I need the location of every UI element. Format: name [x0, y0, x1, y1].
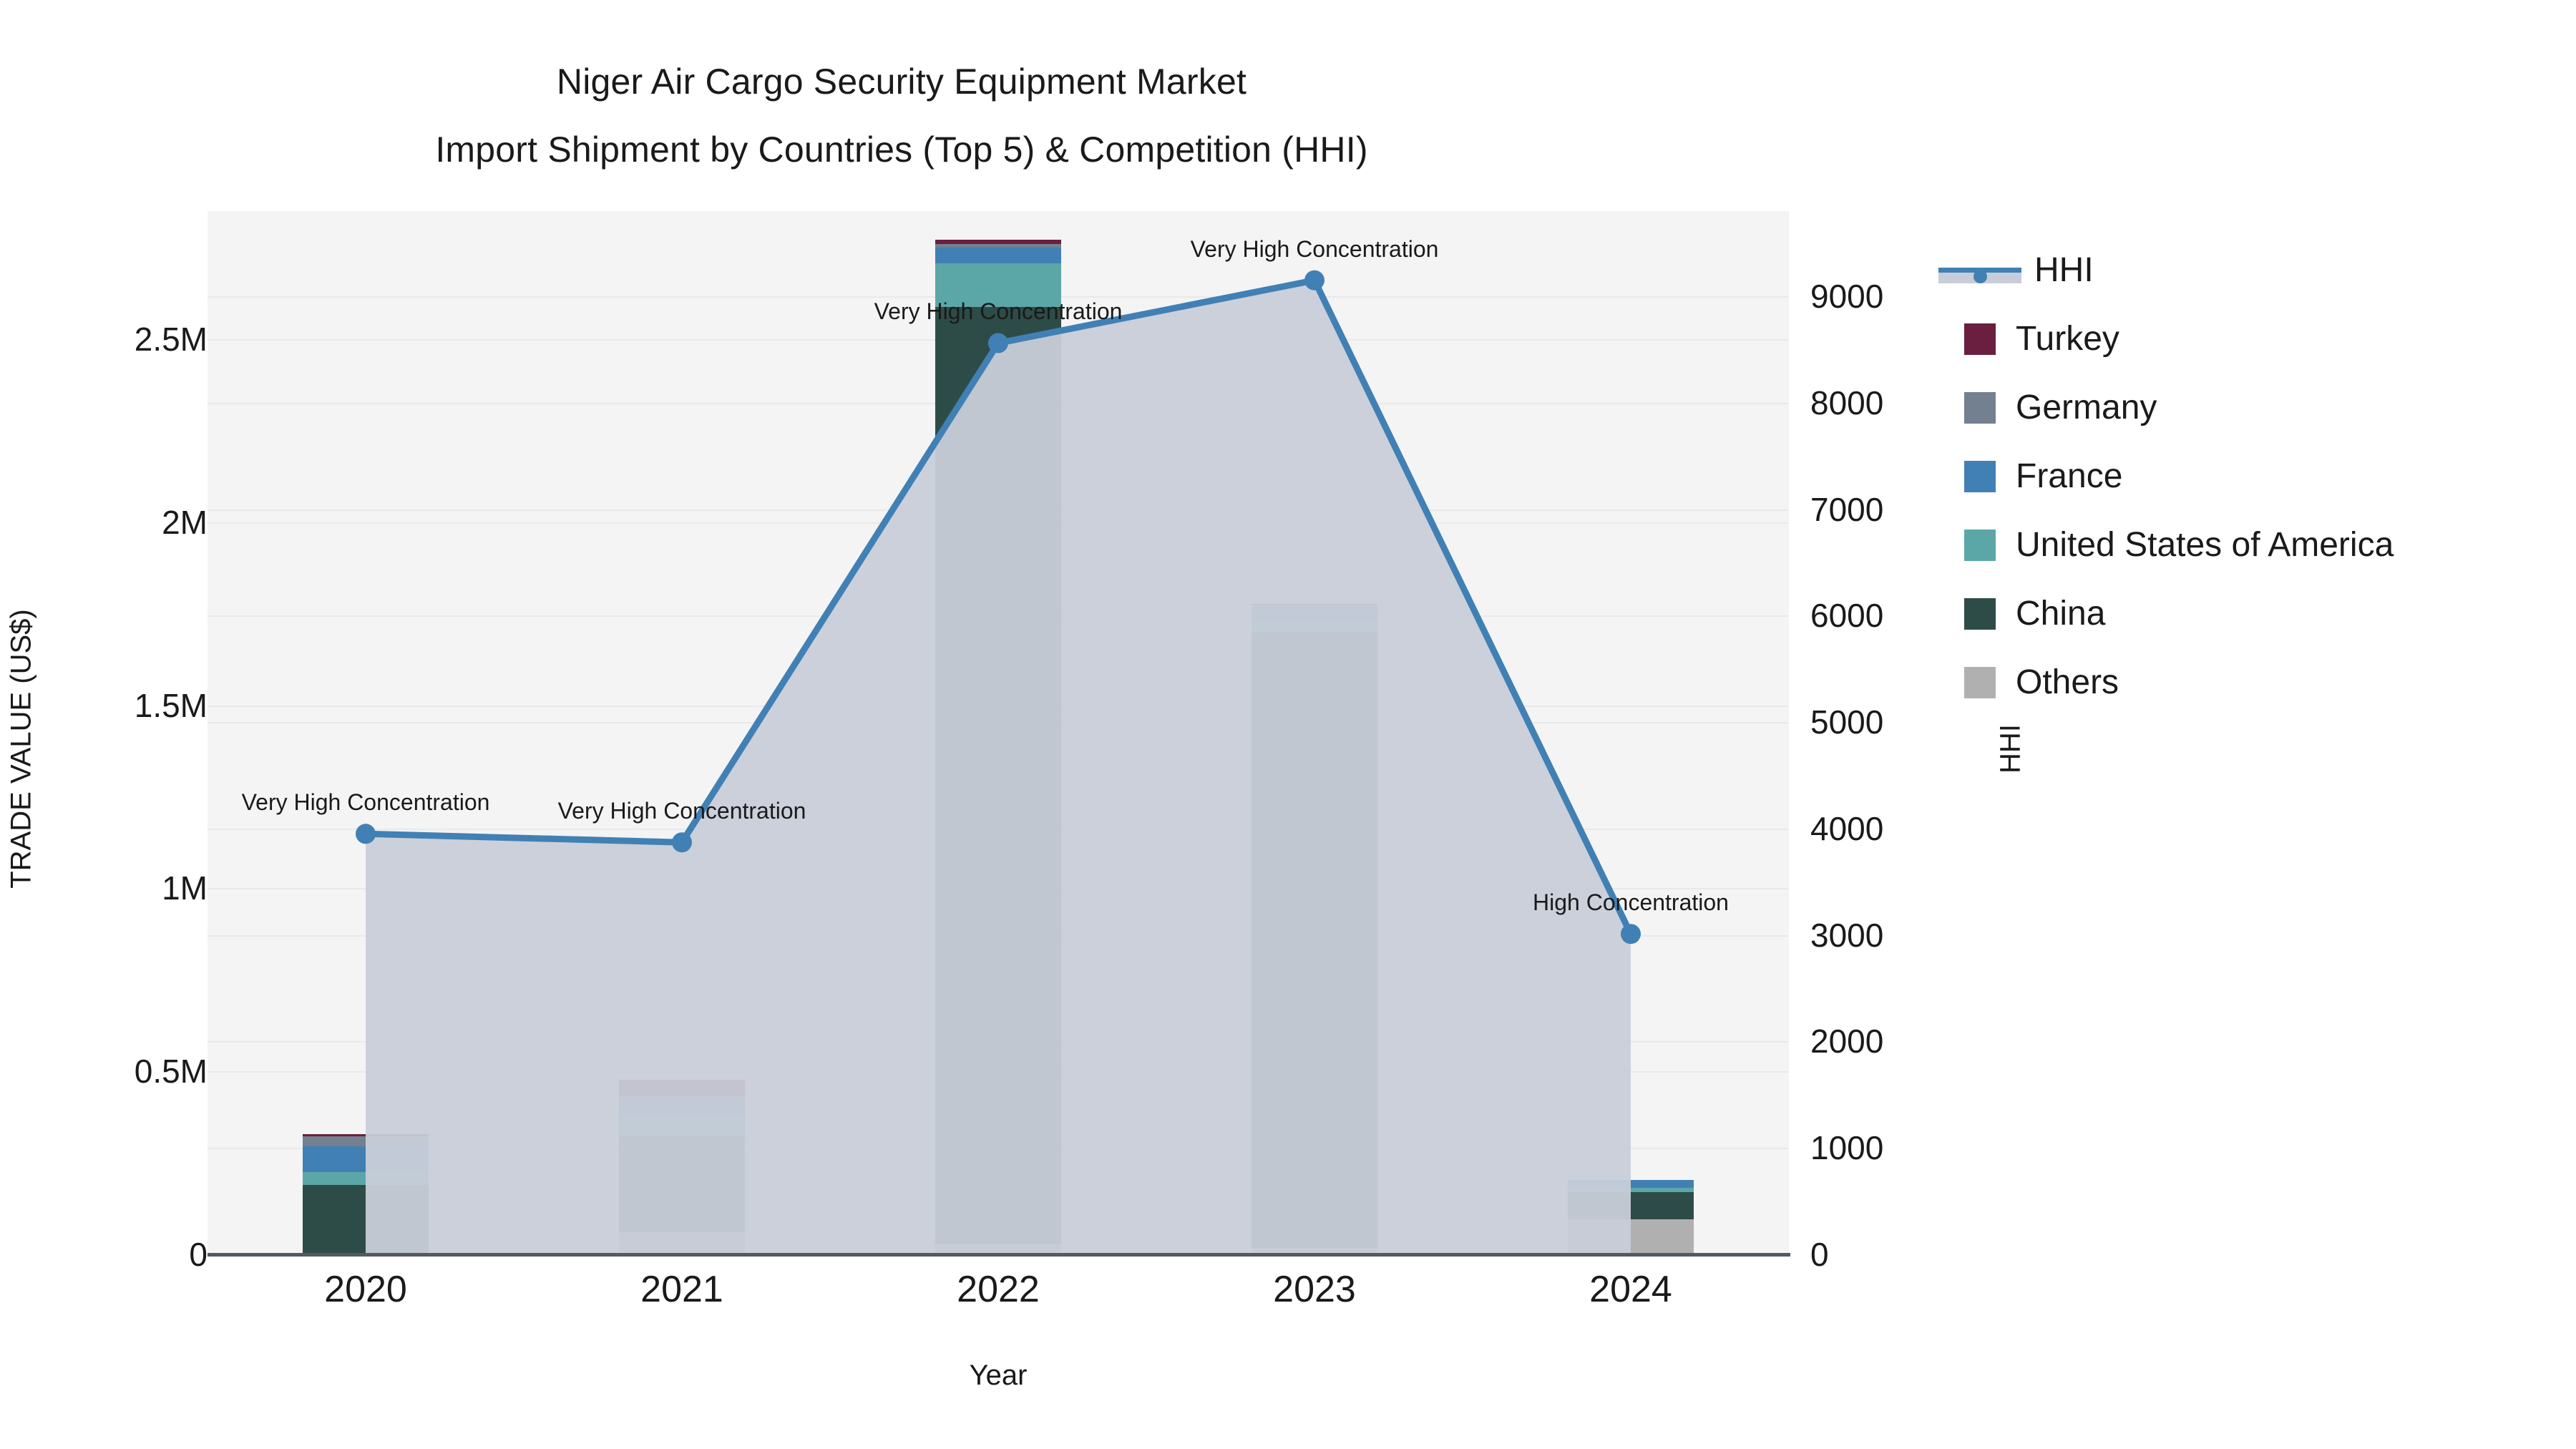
chart-title-line-1: Niger Air Cargo Security Equipment Marke…	[0, 61, 1803, 102]
y-axis-left-tick-label: 0.5M	[135, 1052, 208, 1091]
x-axis-tick-label: 2021	[640, 1268, 723, 1311]
legend-item[interactable]: Germany	[1964, 374, 2551, 442]
legend-color-swatch	[1964, 530, 1996, 561]
y-axis-left-label: TRADE VALUE (US$)	[6, 320, 38, 1179]
y-axis-right-tick-label: 1000	[1810, 1128, 1883, 1167]
plot-area: Very High ConcentrationVery High Concent…	[208, 211, 1789, 1254]
x-axis-tick-label: 2023	[1273, 1268, 1356, 1311]
x-axis-spine	[208, 1253, 1790, 1257]
legend-color-swatch	[1964, 392, 1996, 424]
legend-color-swatch	[1964, 323, 1996, 355]
legend-item-label: Germany	[2016, 391, 2157, 425]
y-axis-right-tick-label: 5000	[1810, 703, 1883, 741]
legend-color-swatch	[1964, 461, 1996, 492]
plot-clip	[208, 211, 1789, 1254]
legend-item-label: United States of America	[2016, 528, 2394, 562]
hhi-annotation: Very High Concentration	[874, 298, 1123, 325]
y-axis-right-tick-label: 3000	[1810, 916, 1883, 955]
x-axis-tick-label: 2020	[324, 1268, 407, 1311]
hhi-point-marker[interactable]	[1621, 924, 1641, 944]
y-axis-right-tick-label: 4000	[1810, 809, 1883, 848]
y-axis-right-tick-label: 9000	[1810, 277, 1883, 316]
hhi-area-fill	[366, 280, 1631, 1254]
legend-item[interactable]: Others	[1964, 648, 2551, 717]
hhi-overlay	[208, 211, 1789, 1254]
legend-color-swatch	[1964, 598, 1996, 630]
y-axis-left-tick-label: 2M	[162, 503, 208, 542]
chart-title-line-2: Import Shipment by Countries (Top 5) & C…	[0, 129, 1803, 170]
hhi-point-marker[interactable]	[356, 824, 376, 844]
y-axis-right-tick-label: 2000	[1810, 1022, 1883, 1060]
legend-item-label: HHI	[2034, 253, 2094, 288]
y-axis-left-tick-label: 1M	[162, 869, 208, 907]
legend-item[interactable]: Turkey	[1964, 305, 2551, 374]
y-axis-left-tick-label: 0	[189, 1235, 208, 1274]
hhi-annotation: Very High Concentration	[558, 798, 806, 824]
y-axis-left-tick-label: 1.5M	[135, 686, 208, 725]
x-axis-label: Year	[208, 1360, 1789, 1392]
legend-item-label: France	[2016, 459, 2122, 494]
legend-item-label: China	[2016, 597, 2105, 631]
hhi-point-marker[interactable]	[988, 333, 1008, 353]
chart-figure: Niger Air Cargo Security Equipment Marke…	[0, 0, 2576, 1449]
legend-item[interactable]: HHI	[1964, 236, 2551, 305]
hhi-point-marker[interactable]	[1304, 270, 1324, 291]
hhi-annotation: Very High Concentration	[1191, 236, 1439, 263]
legend: HHITurkeyGermanyFranceUnited States of A…	[1964, 236, 2551, 717]
y-axis-right-tick-label: 0	[1810, 1235, 1829, 1274]
legend-item-label: Turkey	[2016, 322, 2119, 356]
hhi-annotation: Very High Concentration	[242, 789, 490, 816]
legend-item[interactable]: China	[1964, 580, 2551, 648]
y-axis-left-tick-label: 2.5M	[135, 320, 208, 358]
y-axis-right-tick-label: 7000	[1810, 490, 1883, 529]
legend-line-marker-icon	[1938, 255, 2021, 286]
legend-item[interactable]: United States of America	[1964, 511, 2551, 580]
legend-color-swatch	[1964, 667, 1996, 698]
y-axis-right-tick-label: 6000	[1810, 596, 1883, 635]
legend-item[interactable]: France	[1964, 442, 2551, 511]
x-axis-tick-label: 2022	[957, 1268, 1040, 1311]
x-axis-tick-label: 2024	[1589, 1268, 1672, 1311]
hhi-point-marker[interactable]	[672, 832, 692, 852]
y-axis-right-tick-label: 8000	[1810, 384, 1883, 422]
legend-item-label: Others	[2016, 665, 2119, 700]
hhi-annotation: High Concentration	[1533, 889, 1729, 916]
